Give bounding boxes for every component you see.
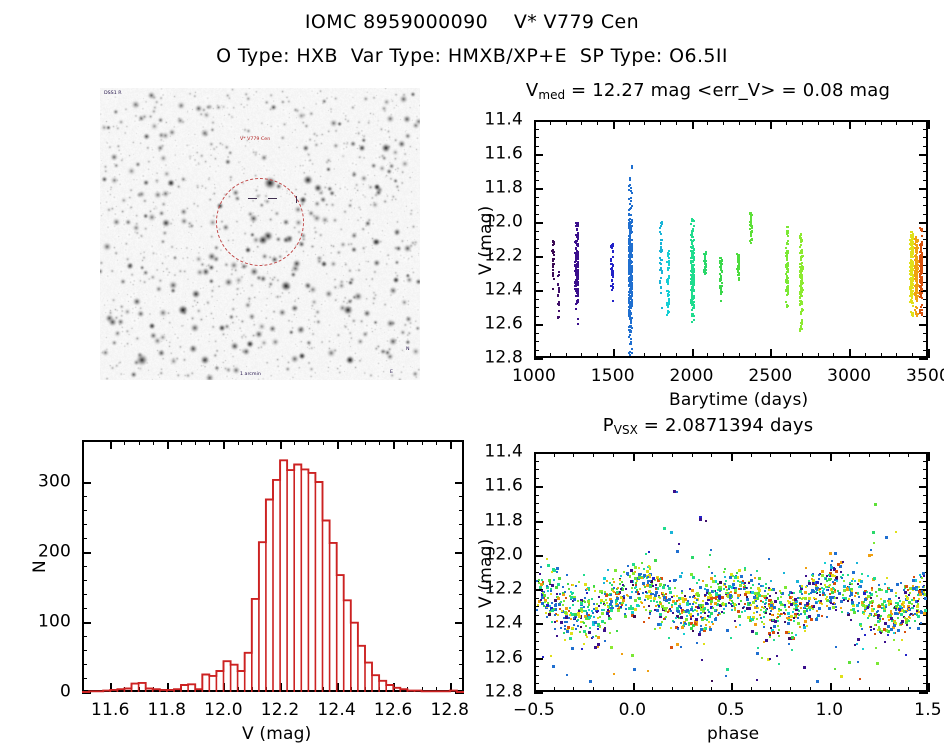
data-point (690, 616, 692, 618)
data-point (668, 602, 670, 604)
data-point (567, 583, 569, 585)
data-point (888, 604, 890, 606)
y-tick-label: 12.4 (484, 613, 523, 633)
data-point (713, 590, 715, 592)
data-point (797, 617, 799, 619)
data-point (762, 585, 764, 587)
data-point (702, 580, 704, 582)
data-point (734, 576, 737, 579)
data-point (677, 628, 679, 630)
data-point (554, 621, 556, 623)
data-point (650, 586, 652, 588)
data-point (634, 566, 637, 569)
data-point (867, 575, 869, 577)
data-point (910, 613, 912, 615)
data-point (871, 587, 873, 589)
data-point (829, 552, 832, 555)
data-point (699, 631, 701, 633)
data-point (538, 579, 540, 581)
data-point (830, 602, 832, 604)
data-point (811, 578, 813, 580)
data-point (638, 593, 640, 595)
data-point (621, 597, 623, 599)
data-point (573, 617, 575, 619)
data-point (771, 601, 773, 603)
data-point (656, 609, 659, 612)
data-point (559, 593, 561, 595)
data-point (598, 605, 600, 607)
data-point (710, 612, 713, 615)
data-point (596, 603, 598, 605)
data-point (710, 603, 712, 605)
data-point (581, 648, 583, 650)
data-point (794, 598, 797, 601)
data-point (638, 597, 641, 600)
data-point (888, 614, 890, 616)
data-point (840, 607, 842, 609)
data-point (625, 608, 627, 610)
data-point (829, 596, 832, 599)
data-point (867, 607, 869, 609)
data-point (568, 610, 570, 612)
data-point (804, 591, 807, 594)
data-point (721, 603, 723, 605)
data-point (918, 586, 920, 588)
data-point (699, 604, 702, 607)
data-point (734, 609, 736, 611)
data-point (564, 611, 567, 614)
data-point (604, 640, 606, 642)
data-point (609, 582, 611, 584)
data-point (627, 565, 629, 567)
data-point (785, 631, 788, 634)
data-point (905, 585, 908, 588)
data-point (692, 624, 695, 627)
data-point (544, 601, 546, 603)
data-point (645, 591, 647, 593)
data-point (659, 627, 661, 629)
data-point (684, 598, 687, 601)
data-point (738, 588, 740, 590)
data-point (737, 610, 740, 613)
data-point (744, 582, 746, 584)
data-point (680, 616, 683, 619)
data-point (924, 609, 927, 612)
data-point (575, 585, 577, 587)
data-point (547, 602, 549, 604)
data-point (778, 629, 780, 631)
data-point (788, 631, 790, 633)
data-point (857, 661, 859, 663)
data-point (842, 594, 844, 596)
data-point (600, 602, 602, 604)
data-point (782, 604, 784, 606)
data-point (869, 614, 871, 616)
data-point (746, 598, 749, 601)
data-point (897, 613, 899, 615)
data-point (916, 605, 919, 608)
data-point (634, 608, 637, 611)
data-point (886, 577, 888, 579)
data-point (712, 580, 715, 583)
data-point (680, 622, 682, 624)
data-point (624, 613, 626, 615)
data-point (553, 608, 555, 610)
data-point (856, 562, 858, 564)
data-point (662, 586, 665, 589)
data-point (558, 577, 561, 580)
data-point (825, 598, 827, 600)
data-point (818, 574, 820, 576)
data-point (691, 556, 694, 559)
data-point (871, 554, 873, 556)
y-tick-label: 11.4 (484, 442, 523, 462)
data-point (768, 587, 770, 589)
data-point (584, 583, 587, 586)
data-point (619, 583, 621, 585)
data-point (641, 562, 643, 564)
data-point (714, 609, 716, 611)
data-point (772, 631, 775, 634)
data-point (691, 589, 694, 592)
data-point (799, 626, 801, 628)
data-point (679, 613, 681, 615)
data-point (718, 597, 720, 599)
data-point (840, 571, 842, 573)
data-point (652, 585, 654, 587)
data-point (871, 605, 873, 607)
data-point (557, 597, 560, 600)
data-point (617, 587, 619, 589)
data-point (729, 596, 731, 598)
data-point (752, 584, 754, 586)
data-point (565, 597, 567, 599)
data-point (537, 604, 539, 606)
data-point (898, 649, 900, 651)
data-point (770, 604, 773, 607)
data-point (854, 580, 856, 582)
data-point (705, 520, 707, 522)
data-point (870, 597, 872, 599)
data-point (636, 589, 638, 591)
data-point (685, 623, 687, 625)
data-point (568, 588, 570, 590)
data-point (622, 602, 624, 604)
data-point (761, 657, 763, 659)
data-point (674, 587, 676, 589)
data-point (640, 573, 642, 575)
data-point (611, 584, 613, 586)
data-point (686, 615, 688, 617)
data-point (800, 613, 802, 615)
data-point (791, 596, 793, 598)
data-point (901, 620, 904, 623)
data-point (692, 630, 694, 632)
data-point (548, 613, 551, 616)
data-point (758, 577, 761, 580)
data-point (543, 605, 545, 607)
x-tick-label: −0.5 (513, 700, 555, 720)
data-point (686, 609, 689, 612)
data-point (799, 603, 801, 605)
data-point (613, 673, 615, 675)
data-point (620, 575, 622, 577)
data-point (549, 611, 551, 613)
data-point (689, 596, 691, 598)
data-point (788, 643, 790, 645)
data-point (815, 591, 817, 593)
data-point (765, 639, 768, 642)
data-point (557, 614, 559, 616)
data-point (597, 646, 599, 648)
data-point (702, 600, 704, 602)
data-point (884, 583, 886, 585)
data-point (774, 620, 777, 623)
data-point (793, 620, 795, 622)
data-point (809, 609, 811, 611)
data-point (837, 590, 839, 592)
data-point (822, 594, 824, 596)
data-point (904, 591, 907, 594)
data-point (648, 605, 650, 607)
data-point (741, 611, 743, 613)
data-point (783, 612, 785, 614)
data-point (714, 602, 717, 605)
data-point (879, 618, 881, 620)
data-point (604, 604, 606, 606)
data-point (695, 602, 697, 604)
data-point (916, 588, 918, 590)
data-point (592, 636, 594, 638)
data-point (563, 617, 565, 619)
data-point (569, 637, 572, 640)
data-point (835, 609, 837, 611)
data-point (820, 583, 822, 585)
data-point (699, 518, 702, 521)
data-point (821, 615, 823, 617)
data-point (562, 586, 564, 588)
data-point (897, 629, 900, 632)
data-point (913, 605, 915, 607)
data-point (830, 564, 832, 566)
data-point (882, 607, 884, 609)
data-point (560, 621, 563, 624)
data-point (826, 575, 828, 577)
data-point (773, 606, 776, 609)
data-point (668, 587, 671, 590)
data-point (734, 604, 736, 606)
data-point (586, 592, 588, 594)
data-point (723, 571, 725, 573)
data-point (566, 674, 568, 676)
data-point (897, 617, 899, 619)
data-point (601, 612, 604, 615)
data-point (566, 574, 568, 576)
data-point (578, 615, 581, 618)
data-point (874, 503, 877, 506)
data-point (556, 635, 558, 637)
data-point (923, 575, 925, 577)
data-point (604, 622, 606, 624)
data-point (607, 569, 609, 571)
data-point (563, 600, 565, 602)
data-point (905, 654, 907, 656)
data-point (796, 580, 799, 583)
data-point (597, 636, 600, 639)
data-point (852, 571, 855, 574)
data-point (552, 665, 555, 668)
data-point (816, 680, 819, 683)
data-point (709, 628, 712, 631)
histogram-y-axis-label: N (30, 560, 50, 573)
data-point (648, 565, 650, 567)
data-point (603, 601, 605, 603)
data-point (815, 618, 818, 621)
data-point (893, 639, 895, 641)
data-point (707, 609, 709, 611)
data-point (584, 601, 586, 603)
data-point (785, 609, 787, 611)
data-point (880, 632, 882, 634)
data-point (639, 588, 641, 590)
data-point (703, 630, 705, 632)
data-point (808, 580, 810, 582)
data-point (901, 639, 903, 641)
data-point (880, 598, 882, 600)
data-point (840, 675, 843, 678)
data-point (656, 601, 658, 603)
data-point (810, 592, 812, 594)
data-point (826, 589, 828, 591)
data-point (765, 587, 767, 589)
data-point (906, 624, 908, 626)
data-point (676, 550, 679, 553)
data-point (820, 600, 822, 602)
data-point (916, 614, 918, 616)
data-point (812, 575, 814, 577)
data-point (738, 569, 741, 572)
data-point (895, 609, 897, 611)
data-point (564, 591, 566, 593)
data-point (700, 625, 702, 627)
data-point (618, 593, 620, 595)
data-point (921, 577, 923, 579)
data-point (894, 621, 896, 623)
data-point (757, 647, 759, 649)
data-point (830, 569, 832, 571)
data-point (900, 582, 902, 584)
data-point (726, 629, 729, 632)
data-point (862, 648, 864, 650)
data-point (540, 599, 542, 601)
data-point (680, 607, 682, 609)
data-point (854, 595, 856, 597)
data-point (723, 608, 725, 610)
data-point (665, 593, 667, 595)
data-point (588, 631, 591, 634)
data-point (740, 575, 743, 578)
data-point (641, 577, 643, 579)
data-point (612, 578, 614, 580)
data-point (904, 631, 906, 633)
data-point (919, 593, 922, 596)
data-point (815, 602, 817, 604)
data-point (540, 566, 542, 568)
data-point (757, 607, 759, 609)
data-point (806, 625, 808, 627)
data-point (550, 655, 552, 657)
data-point (724, 576, 726, 578)
data-point (571, 647, 574, 650)
data-point (613, 591, 615, 593)
data-point (690, 573, 693, 576)
data-point (877, 610, 879, 612)
data-point (644, 599, 646, 601)
data-point (572, 627, 574, 629)
data-point (719, 590, 721, 592)
data-point (792, 611, 794, 613)
data-point (570, 591, 572, 593)
data-point (603, 609, 605, 611)
data-point (679, 575, 682, 578)
data-point (578, 610, 580, 612)
data-point (801, 598, 803, 600)
data-point (586, 588, 588, 590)
data-point (620, 588, 622, 590)
data-point (549, 582, 551, 584)
data-point (755, 600, 757, 602)
data-point (680, 646, 682, 648)
data-point (589, 680, 592, 683)
data-point (836, 580, 838, 582)
data-point (696, 621, 698, 623)
data-point (864, 610, 866, 612)
data-point (850, 619, 852, 621)
data-point (650, 600, 652, 602)
data-point (658, 605, 660, 607)
data-point (575, 628, 577, 630)
data-point (591, 610, 593, 612)
data-point (764, 597, 766, 599)
data-point (765, 609, 767, 611)
data-point (863, 613, 865, 615)
x-tick-label: 1.5 (914, 700, 942, 720)
data-point (857, 592, 859, 594)
data-point (649, 580, 651, 582)
data-point (775, 592, 777, 594)
data-point (599, 616, 601, 618)
data-point (835, 646, 837, 648)
data-point (632, 572, 635, 575)
data-point (689, 588, 691, 590)
data-point (808, 615, 811, 618)
data-point (674, 602, 677, 605)
data-point (733, 587, 735, 589)
data-point (843, 599, 845, 601)
y-tick-label: 11.8 (484, 510, 523, 530)
data-point (554, 628, 556, 630)
data-point (835, 570, 838, 573)
data-point (731, 609, 733, 611)
data-point (806, 610, 808, 612)
data-point (629, 575, 631, 577)
data-point (851, 601, 854, 604)
data-point (773, 625, 776, 628)
data-point (656, 577, 658, 579)
data-point (842, 561, 844, 563)
data-point (649, 568, 651, 570)
data-point (873, 542, 875, 544)
